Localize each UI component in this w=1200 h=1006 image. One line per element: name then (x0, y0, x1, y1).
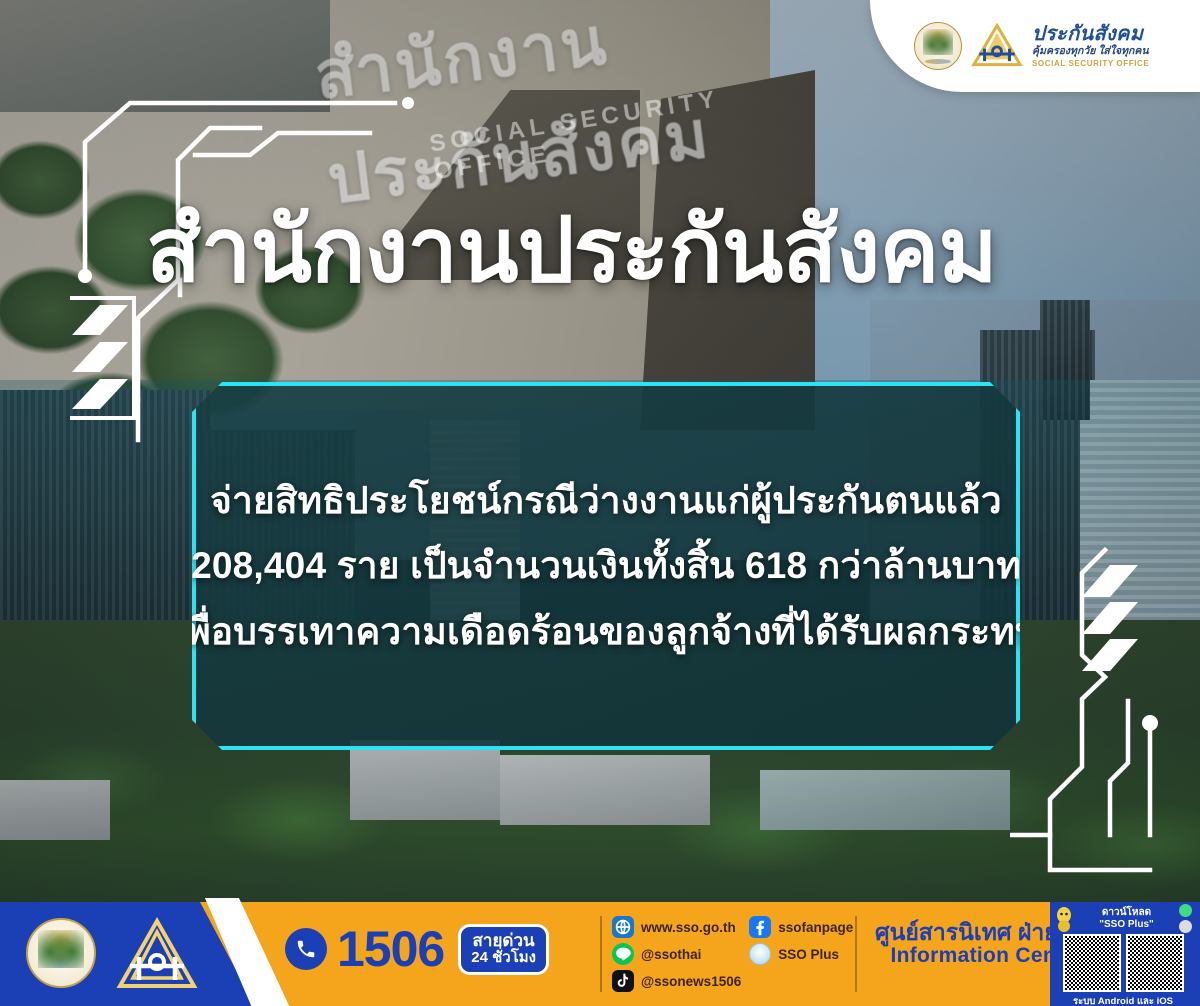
social-link-sso-plus[interactable]: SSO Plus (749, 943, 853, 965)
announcement-card: จ่ายสิทธิประโยชน์กรณีว่างงานแก่ผู้ประกัน… (192, 382, 1020, 750)
apple-store-icon (1179, 920, 1192, 933)
qr-code-android[interactable] (1063, 934, 1121, 992)
hotline-number: 1506 (337, 924, 444, 974)
announcement-line-1: จ่ายสิทธิประโยชน์กรณีว่างงานแก่ผู้ประกัน… (210, 479, 1002, 523)
footer-bar: 1506 สายด่วน 24 ชั่วโมง www.sso.go.th (0, 902, 1200, 1006)
qr-platform-label: ระบบ Android และ iOS (1050, 994, 1196, 1006)
social-label-sso-plus: SSO Plus (778, 947, 839, 962)
social-label-tiktok: @ssonews1506 (641, 974, 741, 989)
footer-divider-1 (600, 916, 602, 992)
brand-text-group: ประกันสังคม คุ้มครองทุกวัย ใส่ใจทุกคน SO… (1032, 24, 1149, 68)
sso-mascot-icon (1054, 906, 1074, 932)
hotline-group[interactable]: 1506 สายด่วน 24 ชั่วโมง (285, 924, 549, 975)
brand-tagline: คุ้มครองทุกวัย ใส่ใจทุกคน (1032, 46, 1149, 57)
brand-name-thai: ประกันสังคม (1032, 24, 1149, 44)
qr-header-row: ดาวน์โหลด "SSO Plus" (1050, 902, 1196, 933)
qr-app-label: "SSO Plus" (1078, 919, 1175, 930)
sso-triangle-logo-icon (970, 22, 1024, 70)
social-link-facebook[interactable]: ssofanpage (749, 916, 853, 938)
line-icon (612, 943, 634, 965)
hotline-badge-line2: 24 ชั่วโมง (471, 950, 536, 967)
social-links-grid: www.sso.go.th ssofanpage @ssothai (612, 916, 853, 992)
social-label-line: @ssothai (641, 947, 701, 962)
facebook-icon (749, 916, 771, 938)
poster-root: สำนักงานประกันสังคม SOCIAL SECURITY OFFI… (0, 0, 1200, 1006)
sso-triangle-logo-icon (116, 916, 198, 992)
social-link-website[interactable]: www.sso.go.th (612, 916, 741, 938)
qr-download-panel: ดาวน์โหลด "SSO Plus" ระบบ Android และ iO… (1050, 902, 1196, 1006)
qr-download-label: ดาวน์โหลด (1078, 907, 1175, 918)
qr-codes-row (1050, 934, 1196, 992)
hotline-badge-line1: สายด่วน (471, 931, 536, 950)
page-title: สำนักงานประกันสังคม (146, 206, 997, 296)
announcement-line-3: เพื่อบรรเทาความเดือดร้อนของลูกจ้างที่ได้… (173, 610, 1038, 654)
thai-royal-emblem-icon (914, 22, 962, 70)
qr-code-ios[interactable] (1126, 934, 1184, 992)
social-link-line[interactable]: @ssothai (612, 943, 741, 965)
social-label-website: www.sso.go.th (641, 920, 736, 935)
qr-header-text: ดาวน์โหลด "SSO Plus" (1078, 907, 1175, 929)
phone-icon (285, 928, 327, 970)
footer-divider-2 (855, 916, 857, 992)
brand-name-english: SOCIAL SECURITY OFFICE (1032, 60, 1149, 68)
globe-icon (612, 916, 634, 938)
sso-plus-icon (749, 943, 771, 965)
social-link-tiktok[interactable]: @ssonews1506 (612, 970, 741, 992)
hotline-badge: สายด่วน 24 ชั่วโมง (458, 924, 549, 975)
social-label-facebook: ssofanpage (778, 920, 853, 935)
tiktok-icon (612, 970, 634, 992)
header-brand-badge: ประกันสังคม คุ้มครองทุกวัย ใส่ใจทุกคน SO… (870, 0, 1200, 92)
announcement-line-2: 208,404 ราย เป็นจำนวนเงินทั้งสิ้น 618 กว… (191, 544, 1021, 588)
android-store-icon (1179, 904, 1192, 917)
thai-royal-emblem-icon (26, 918, 96, 988)
